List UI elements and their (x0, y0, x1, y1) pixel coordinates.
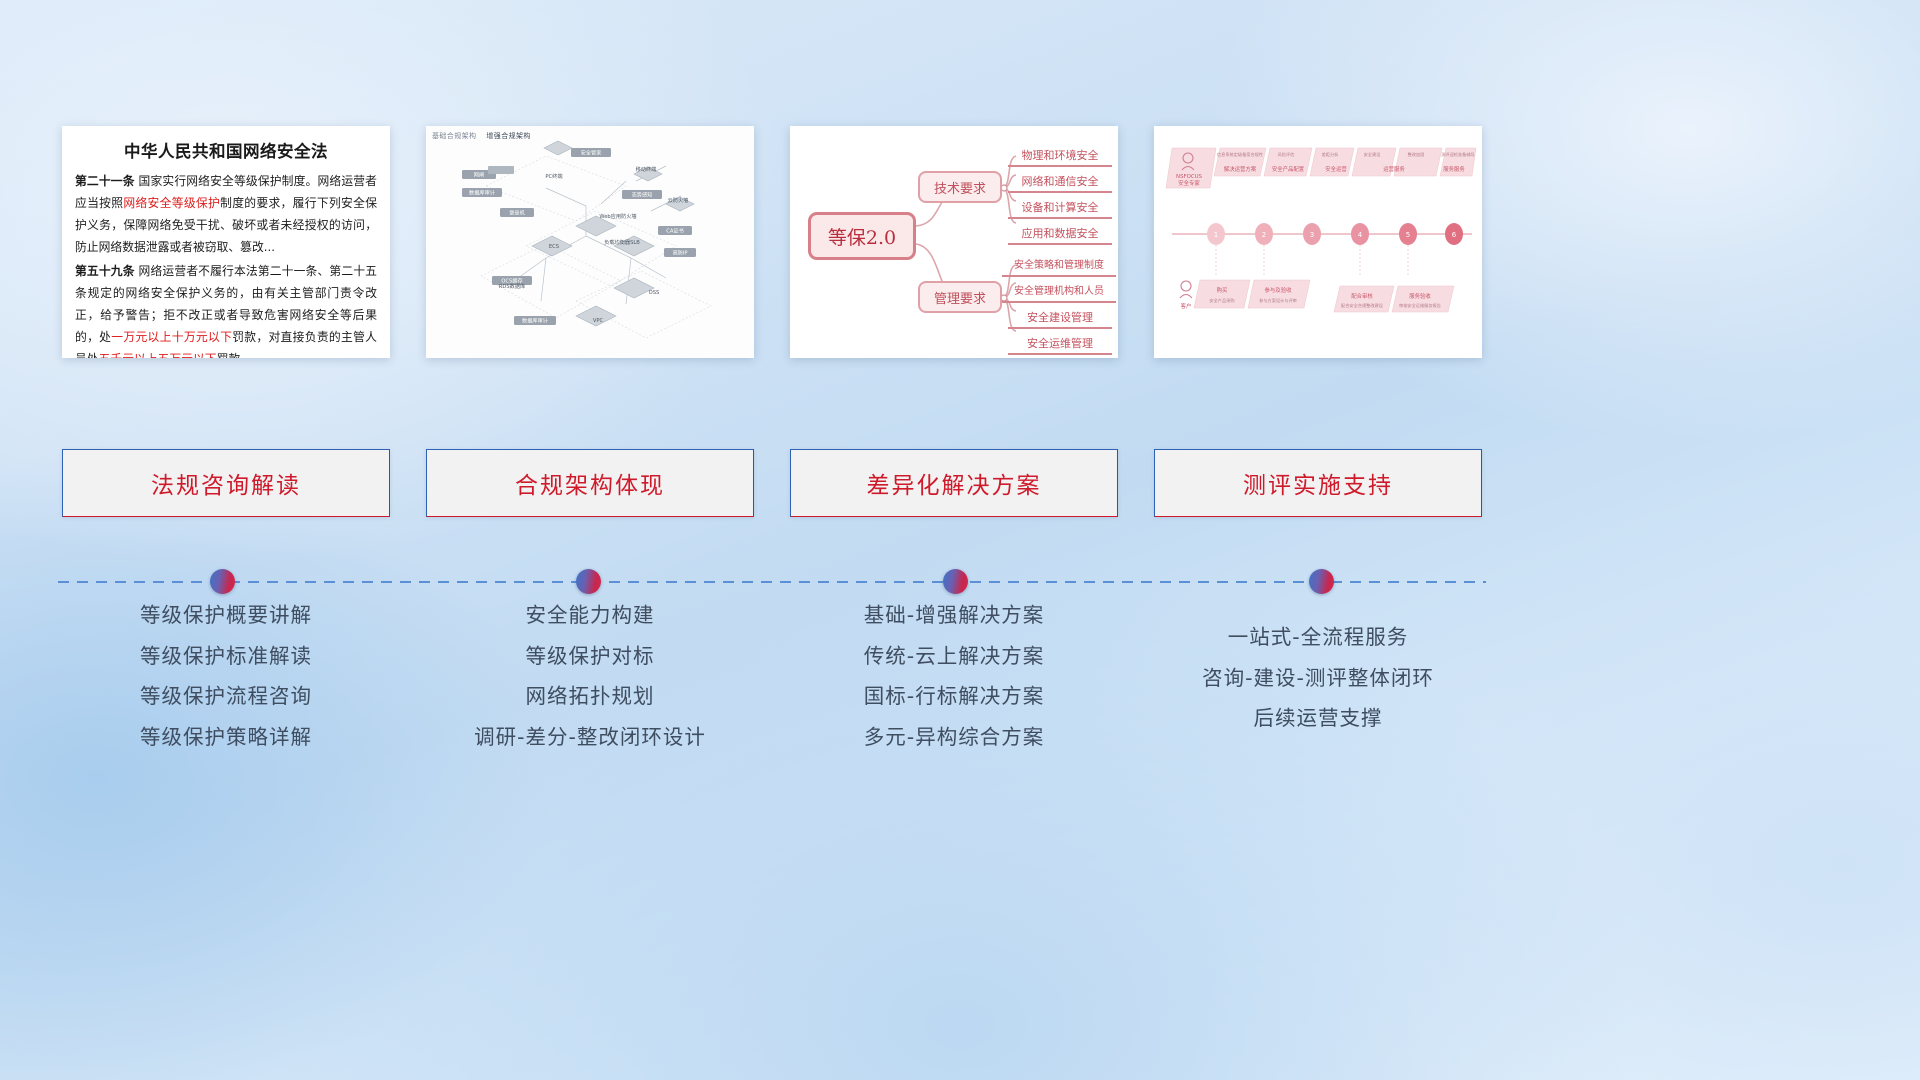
svg-text:NSFOCUS: NSFOCUS (1176, 174, 1203, 180)
timeline-node-2[interactable] (576, 569, 601, 594)
pillar-details-row: 等级保护概要讲解 等级保护标准解读 等级保护流程咨询 等级保护策略详解 安全能力… (62, 605, 1482, 767)
svg-text:ECS: ECS (549, 244, 559, 250)
svg-text:1: 1 (1214, 231, 1218, 239)
svg-text:解决运营方案: 解决运营方案 (1224, 165, 1257, 173)
svg-text:4: 4 (1358, 231, 1363, 239)
timeline-node-1[interactable] (210, 569, 235, 594)
mindmap-leaf-tech-4[interactable]: 应用和数据安全 (1008, 224, 1112, 245)
mindmap-leaf-mgmt-4[interactable]: 安全运维管理 (1008, 334, 1112, 355)
svg-text:服务验收: 服务验收 (1409, 292, 1431, 300)
svg-text:5: 5 (1406, 231, 1410, 239)
mindmap-leaf-mgmt-3[interactable]: 安全建设管理 (1008, 308, 1112, 329)
pillar-title-4: 测评实施支持 (1243, 466, 1393, 500)
svg-text:3: 3 (1310, 231, 1314, 239)
card-compliance-architecture[interactable]: 基础合规架构增强合规架构 网闸 数据库审计 (426, 126, 754, 358)
svg-text:风险评估: 风险评估 (1278, 151, 1295, 158)
svg-text:客户: 客户 (1181, 302, 1192, 310)
svg-text:OSS: OSS (649, 290, 660, 296)
svg-text:安全专家: 安全专家 (1178, 179, 1200, 187)
pillar-3-item-1: 基础-增强解决方案 (790, 605, 1118, 626)
law-article-59-highlight-2: 五千元以上五万元以下 (99, 352, 217, 359)
svg-text:移动终端: 移动终端 (636, 165, 657, 173)
svg-text:数据库审计: 数据库审计 (469, 189, 495, 197)
pillar-2-item-2: 等级保护对标 (426, 646, 754, 667)
svg-text:VPC: VPC (593, 318, 604, 324)
law-title: 中华人民共和国网络安全法 (75, 138, 377, 162)
svg-text:RDS数据库: RDS数据库 (499, 282, 525, 290)
pillar-title-1: 法规咨询解读 (151, 466, 301, 500)
svg-text:配合安全合规整改建设: 配合安全合规整改建设 (1341, 302, 1384, 309)
svg-text:整改加固: 整改加固 (1408, 151, 1425, 158)
svg-text:配合审核: 配合审核 (1351, 292, 1373, 300)
svg-text:服务服务: 服务服务 (1443, 165, 1465, 173)
timeline-axis (58, 566, 1486, 598)
svg-text:测评迎检准备辅导: 测评迎检准备辅导 (1441, 151, 1475, 158)
mindmap-branch-technical[interactable]: 技术要求 (918, 171, 1002, 203)
timeline-node-3[interactable] (943, 569, 968, 594)
pillar-3-item-2: 传统-云上解决方案 (790, 646, 1118, 667)
svg-text:负载均衡器SLB: 负载均衡器SLB (604, 238, 640, 246)
law-article-21-label: 第二十一条 (75, 174, 135, 188)
slide-canvas: 中华人民共和国网络安全法 第二十一条 国家实行网络安全等级保护制度。网络运营者应… (0, 0, 1920, 1080)
svg-text:参与及验收: 参与及验收 (1265, 286, 1293, 294)
pillar-title-box-1[interactable]: 法规咨询解读 (62, 449, 390, 517)
svg-text:高防IP: 高防IP (672, 249, 687, 257)
card-nsfocus-service-timeline[interactable]: NSFOCUS 安全专家 信息系统定级备案合规性 风险评估 差距分析 安全建设 … (1154, 126, 1482, 358)
svg-text:6: 6 (1452, 231, 1457, 239)
architecture-diagram: 网闸 数据库审计 堡垒机 OCS缓存 数据库审计 安全管家 态势感知 CA证书 … (426, 126, 754, 358)
nsfocus-timeline-diagram: NSFOCUS 安全专家 信息系统定级备案合规性 风险评估 差距分析 安全建设 … (1154, 126, 1482, 358)
svg-text:审核安全运维服务报告: 审核安全运维服务报告 (1399, 302, 1441, 309)
timeline-node-row (58, 566, 1486, 598)
svg-text:CA证书: CA证书 (666, 227, 684, 235)
svg-text:网闸: 网闸 (474, 171, 484, 179)
pillar-title-row: 法规咨询解读 合规架构体现 差异化解决方案 测评实施支持 (62, 449, 1482, 517)
pillar-2-item-4: 调研-差分-整改闭环设计 (426, 727, 754, 748)
svg-text:堡垒机: 堡垒机 (509, 209, 525, 217)
pillar-title-box-4[interactable]: 测评实施支持 (1154, 449, 1482, 517)
svg-text:数据库审计: 数据库审计 (522, 317, 548, 325)
pillar-title-3: 差异化解决方案 (867, 466, 1042, 500)
svg-text:参与方案设计与评审: 参与方案设计与评审 (1259, 297, 1297, 304)
pillar-1-item-1: 等级保护概要讲解 (62, 605, 390, 626)
svg-text:云防火墙: 云防火墙 (668, 196, 689, 204)
svg-text:信息系统定级备案合规性: 信息系统定级备案合规性 (1217, 151, 1263, 158)
illustration-cards-row: 中华人民共和国网络安全法 第二十一条 国家实行网络安全等级保护制度。网络运营者应… (62, 126, 1482, 358)
pillar-4-item-2: 咨询-建设-测评整体闭环 (1154, 668, 1482, 689)
law-article-59-highlight-1: 一万元以上十万元以下 (111, 330, 232, 344)
pillar-title-box-2[interactable]: 合规架构体现 (426, 449, 754, 517)
mindmap-leaf-mgmt-2[interactable]: 安全管理机构和人员 (1002, 282, 1116, 303)
svg-text:安全产品配置: 安全产品配置 (1272, 165, 1305, 173)
mindmap-leaf-tech-1[interactable]: 物理和环境安全 (1008, 146, 1112, 167)
mindmap-leaf-tech-2[interactable]: 网络和通信安全 (1008, 172, 1112, 193)
pillar-1-item-3: 等级保护流程咨询 (62, 686, 390, 707)
mindmap-root-node[interactable]: 等保2.0 (808, 212, 916, 260)
pillar-details-3: 基础-增强解决方案 传统-云上解决方案 国标-行标解决方案 多元-异构综合方案 (790, 605, 1118, 767)
mindmap-leaf-mgmt-1[interactable]: 安全策略和管理制度 (1002, 256, 1116, 277)
card-cybersecurity-law[interactable]: 中华人民共和国网络安全法 第二十一条 国家实行网络安全等级保护制度。网络运营者应… (62, 126, 390, 358)
svg-text:购买: 购买 (1217, 286, 1228, 294)
law-article-21: 第二十一条 国家实行网络安全等级保护制度。网络运营者应当按照网络安全等级保护制度… (75, 171, 377, 259)
svg-text:2: 2 (1262, 231, 1266, 239)
pillar-2-item-3: 网络拓扑规划 (426, 686, 754, 707)
pillar-3-item-3: 国标-行标解决方案 (790, 686, 1118, 707)
pillar-4-item-3: 后续运营支撑 (1154, 708, 1482, 729)
pillar-details-1: 等级保护概要讲解 等级保护标准解读 等级保护流程咨询 等级保护策略详解 (62, 605, 390, 767)
law-article-59-text-c: 罚款。 (217, 352, 252, 359)
timeline-node-4[interactable] (1309, 569, 1334, 594)
svg-text:运营服务: 运营服务 (1383, 165, 1405, 173)
svg-text:安全产品采购: 安全产品采购 (1209, 297, 1234, 304)
pillar-details-4: 一站式-全流程服务 咨询-建设-测评整体闭环 后续运营支撑 (1154, 605, 1482, 767)
law-article-59: 第五十九条 网络运营者不履行本法第二十一条、第二十五条规定的网络安全保护义务的，… (75, 261, 377, 358)
pillar-title-box-3[interactable]: 差异化解决方案 (790, 449, 1118, 517)
svg-text:安全运营: 安全运营 (1325, 165, 1347, 173)
pillar-4-item-1: 一站式-全流程服务 (1154, 627, 1482, 648)
pillar-1-item-4: 等级保护策略详解 (62, 727, 390, 748)
mindmap-leaf-tech-3[interactable]: 设备和计算安全 (1008, 198, 1112, 219)
svg-text:安全建设: 安全建设 (1364, 151, 1382, 158)
law-article-21-highlight: 网络安全等级保护 (123, 196, 220, 210)
mindmap-branch-management[interactable]: 管理要求 (918, 281, 1002, 313)
card-mindmap-dengbao[interactable]: 等保2.0 技术要求 物理和环境安全 网络和通信安全 设备和计算安全 应用和数据… (790, 126, 1118, 358)
svg-text:Web应用防火墙: Web应用防火墙 (599, 212, 636, 220)
svg-text:PC终端: PC终端 (545, 172, 562, 180)
svg-text:差距分析: 差距分析 (1322, 151, 1339, 158)
law-article-59-label: 第五十九条 (75, 264, 135, 278)
pillar-1-item-2: 等级保护标准解读 (62, 646, 390, 667)
pillar-title-2: 合规架构体现 (515, 466, 665, 500)
pillar-2-item-1: 安全能力构建 (426, 605, 754, 626)
svg-text:态势感知: 态势感知 (632, 191, 653, 199)
svg-text:安全管家: 安全管家 (581, 149, 602, 157)
pillar-details-2: 安全能力构建 等级保护对标 网络拓扑规划 调研-差分-整改闭环设计 (426, 605, 754, 767)
pillar-3-item-4: 多元-异构综合方案 (790, 727, 1118, 748)
